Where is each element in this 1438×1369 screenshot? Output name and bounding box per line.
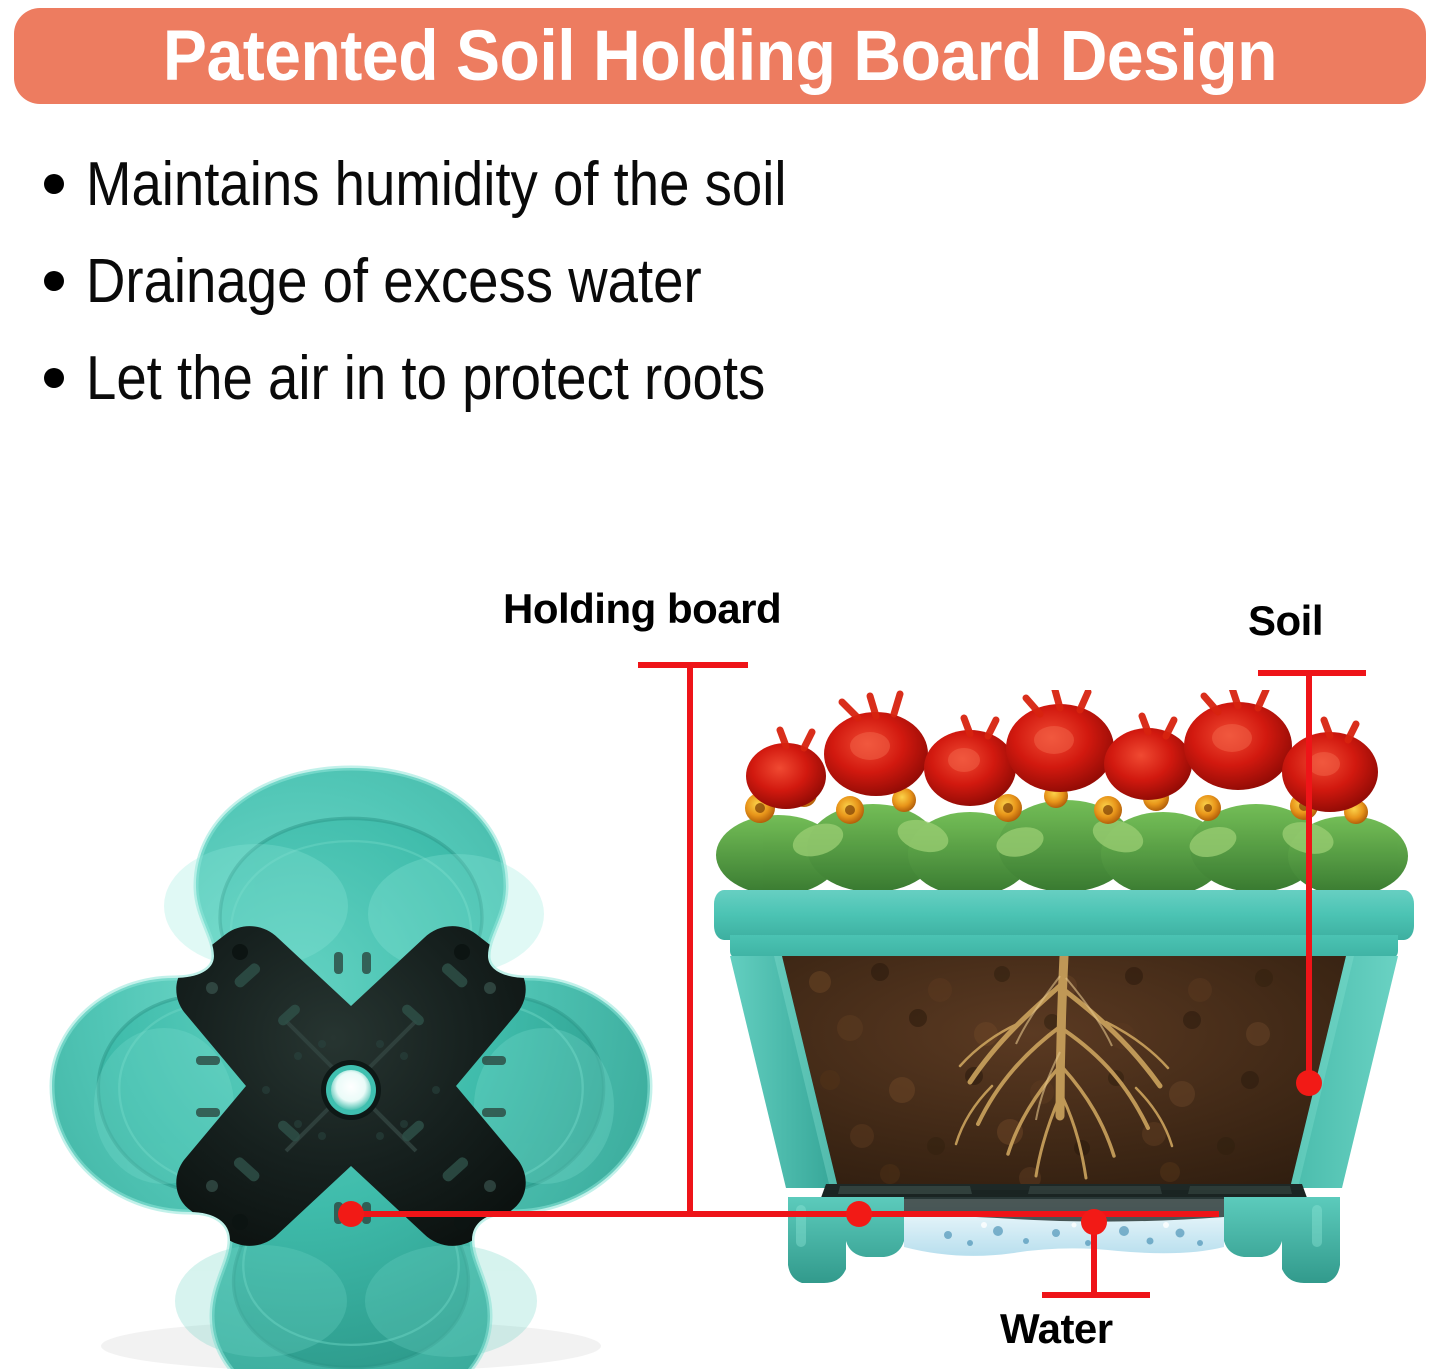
clover-planter-photo [36,756,666,1369]
soil-marker [1296,1070,1322,1096]
feature-list: Maintains humidity of the soil Drainage … [44,148,1084,439]
bullet-point-icon [44,271,64,291]
planter-cross-section-photo [700,690,1438,1290]
holding-board-marker-right [846,1201,872,1227]
callout-label-soil: Soil [1248,597,1323,645]
drain-hole-icon [321,1060,381,1120]
holding-board-marker-left [338,1201,364,1227]
callout-label-holding-board: Holding board [503,585,781,633]
clover-planter-illustration [36,756,666,1369]
page-title: Patented Soil Holding Board Design [163,21,1277,92]
flower-canopy [708,690,1408,902]
water-marker [1081,1209,1107,1235]
list-item: Maintains humidity of the soil [44,148,1084,221]
bullet-point-icon [44,174,64,194]
flowers-illustration [708,690,1408,902]
list-item: Let the air in to protect roots [44,342,1084,415]
holding-board-connector-tbar [638,662,748,668]
bullet-point-icon [44,368,64,388]
list-item: Drainage of excess water [44,245,1084,318]
feature-text: Let the air in to protect roots [86,342,765,415]
header-banner: Patented Soil Holding Board Design [14,8,1426,104]
holding-board-connector-stem [687,662,693,1214]
feature-text: Maintains humidity of the soil [86,148,787,221]
soil-connector-stem [1306,670,1312,1082]
feature-text: Drainage of excess water [86,245,702,318]
callout-label-water: Water [1000,1305,1113,1353]
soil-connector-tbar [1258,670,1366,676]
